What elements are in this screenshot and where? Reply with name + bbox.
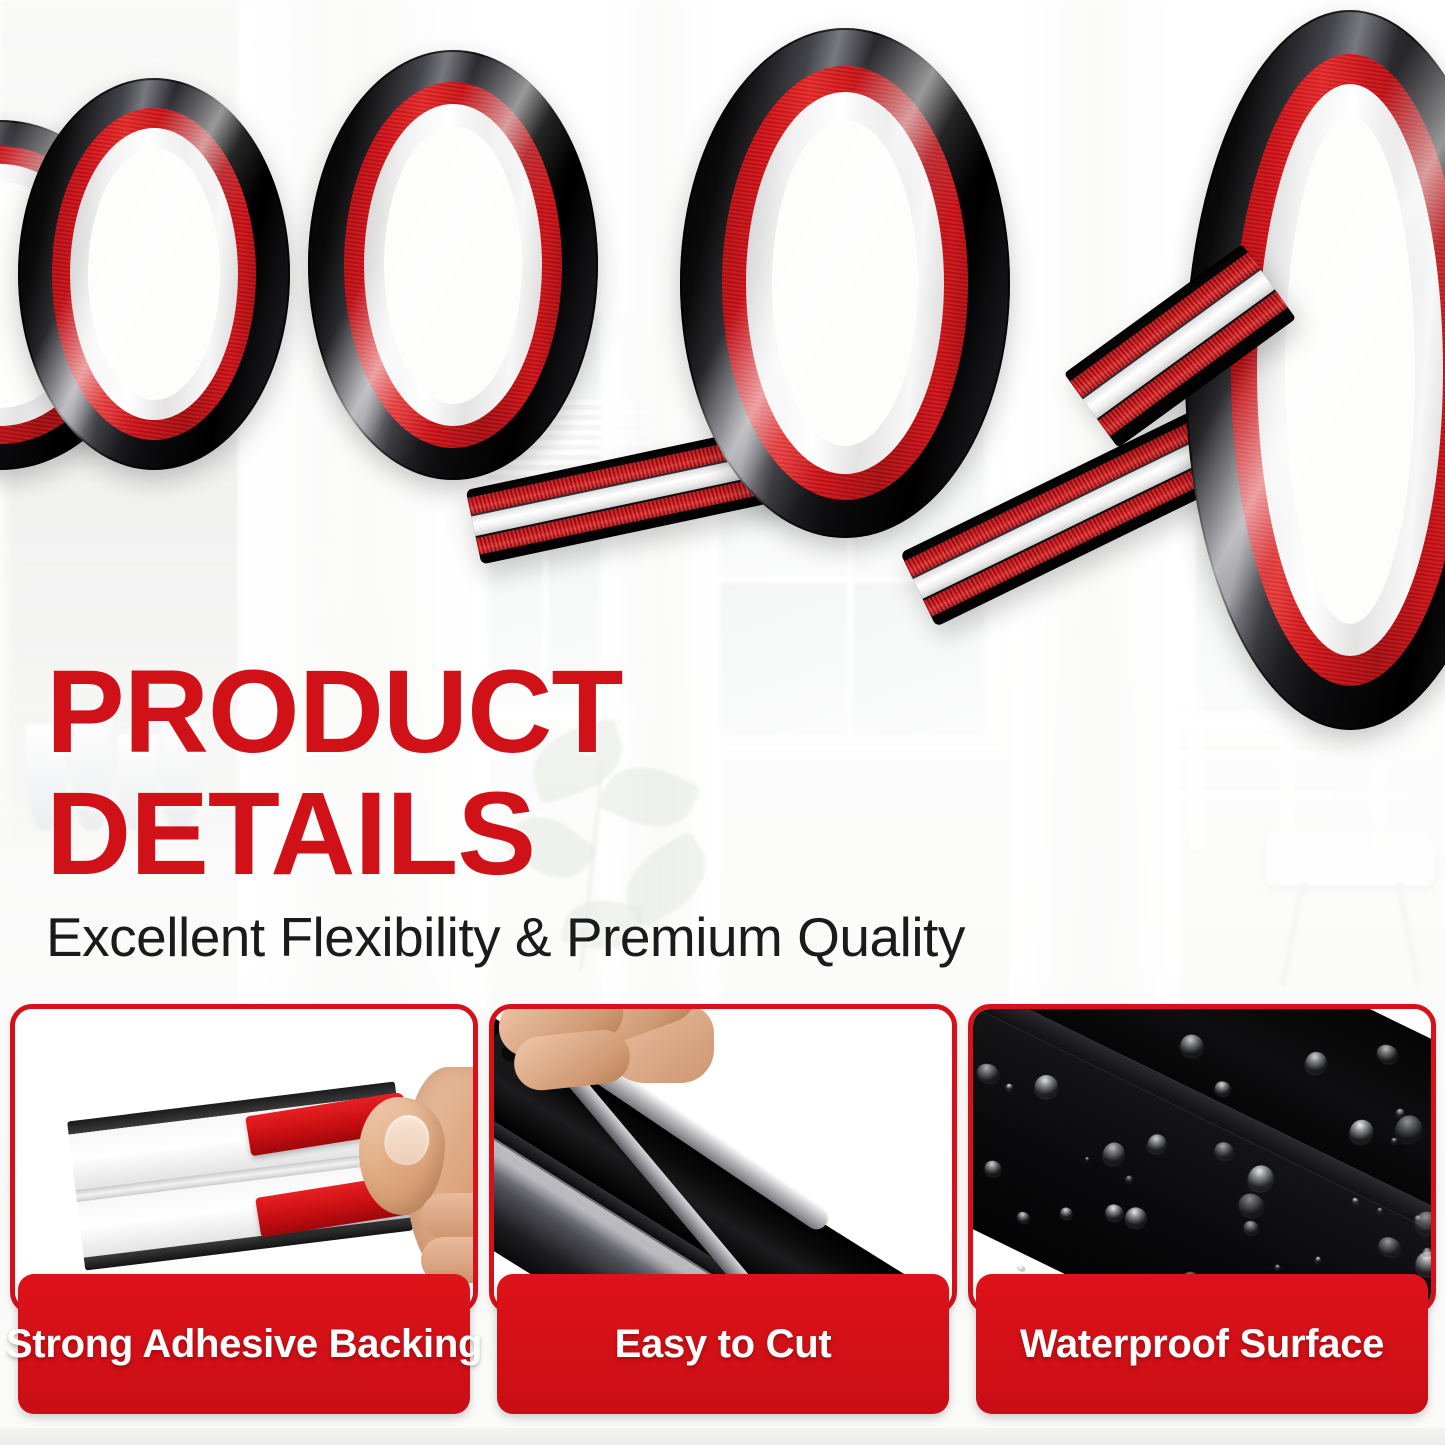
black-waterproof-surface [973, 1009, 1431, 1309]
adhesive-backing-photo [15, 1009, 473, 1309]
feature-image-frame [10, 1004, 478, 1314]
feature-caption-bar: Strong Adhesive Backing [18, 1274, 470, 1414]
feature-image-frame [489, 1004, 957, 1314]
feature-caption-text: Waterproof Surface [1020, 1322, 1384, 1367]
feature-caption-text: Strong Adhesive Backing [6, 1322, 482, 1367]
hand-peeling-liner [345, 1067, 473, 1277]
feature-card-easy-to-cut[interactable]: Easy to Cut [489, 1004, 957, 1428]
feature-image-frame [968, 1004, 1436, 1314]
feature-panel-row: Strong Adhesive Backing [0, 1004, 1445, 1434]
easy-to-cut-photo [494, 1009, 952, 1309]
water-droplets [973, 1009, 1431, 1309]
feature-caption-bar: Easy to Cut [497, 1274, 949, 1414]
feature-card-strong-adhesive-backing[interactable]: Strong Adhesive Backing [10, 1004, 478, 1428]
tape-coil-loop [308, 50, 598, 480]
feature-caption-bar: Waterproof Surface [976, 1274, 1428, 1414]
tape-coil-loop [18, 78, 290, 470]
page-title-line-2: DETAILS [46, 777, 1026, 893]
waterproof-surface-photo [973, 1009, 1431, 1309]
bottom-background-strip [0, 1428, 1445, 1445]
feature-card-waterproof-surface[interactable]: Waterproof Surface [968, 1004, 1436, 1428]
product-detail-image: PRODUCT DETAILS Excellent Flexibility & … [0, 0, 1445, 1445]
tape-coil-loop [680, 28, 1010, 538]
page-title-line-1: PRODUCT [46, 655, 1026, 771]
feature-caption-text: Easy to Cut [615, 1322, 832, 1367]
page-title: PRODUCT DETAILS [46, 655, 1026, 892]
hand-holding-scissors [494, 1009, 714, 1175]
page-subtitle: Excellent Flexibility & Premium Quality [46, 905, 965, 969]
